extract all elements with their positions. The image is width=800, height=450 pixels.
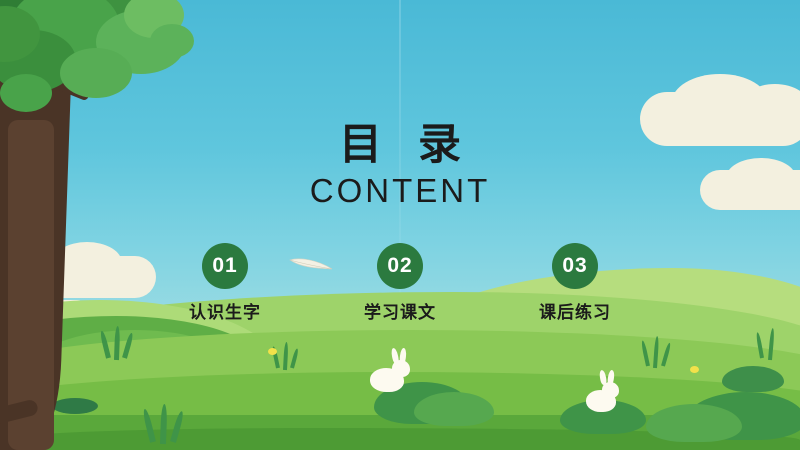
content-item-3-number: 03 [552, 243, 598, 289]
slide-canvas: 目 录 CONTENT 01 认识生字 02 学习课文 03 课后练习 [0, 0, 800, 450]
content-item-3[interactable]: 03 课后练习 [500, 243, 650, 323]
content-item-3-label: 课后练习 [500, 298, 650, 323]
butterfly-right [690, 366, 699, 373]
content-item-1-label: 认识生字 [150, 298, 300, 323]
content-item-1-number: 01 [202, 243, 248, 289]
pond [52, 398, 98, 414]
content-item-1[interactable]: 01 认识生字 [150, 243, 300, 323]
content-items: 01 认识生字 02 学习课文 03 课后练习 [150, 243, 650, 333]
content-item-2[interactable]: 02 学习课文 [325, 243, 475, 323]
content-item-2-label: 学习课文 [325, 298, 475, 323]
page-title-en: CONTENT [0, 172, 800, 210]
content-item-2-number: 02 [377, 243, 423, 289]
page-title-cn: 目 录 [0, 122, 800, 168]
butterfly-left [268, 348, 277, 355]
